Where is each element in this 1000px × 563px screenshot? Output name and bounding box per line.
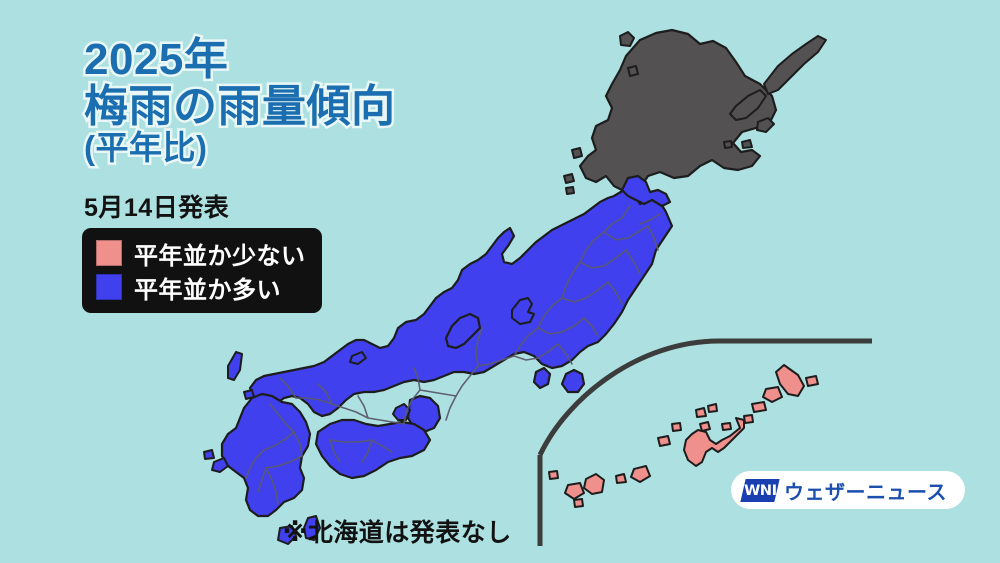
yaeyama-small	[549, 471, 558, 479]
hateruma-island	[574, 499, 583, 507]
kerama-island	[700, 422, 710, 431]
page-title: 2025年 梅雨の雨量傾向 (平年比)	[84, 38, 396, 164]
goto-island-b	[204, 450, 214, 459]
hokkaido-rishiri-island	[620, 32, 634, 46]
legend-item-less: 平年並か少ない	[96, 238, 306, 268]
boso-peninsula	[562, 370, 584, 392]
okinoerabu-island	[752, 402, 766, 412]
title-subtitle: (平年比)	[84, 131, 396, 165]
kyushu-island	[222, 394, 310, 516]
goto-island-a	[212, 458, 228, 472]
yonaguni-island	[616, 474, 626, 483]
yoron-island	[744, 415, 753, 423]
announcement-date: 5月14日発表	[84, 188, 229, 224]
tonaki-island	[672, 423, 681, 431]
tsushima-island	[228, 352, 242, 380]
legend-box: 平年並か少ない 平年並か多い	[82, 228, 322, 313]
hokkaido-small-island-a	[564, 174, 574, 183]
hokkaido-small-island-b	[566, 187, 574, 194]
legend-swatch-less	[96, 240, 122, 266]
legend-swatch-more	[96, 274, 122, 300]
hokkaido-rebun-island	[628, 66, 638, 76]
region-hokkaido	[564, 30, 826, 194]
kume-island	[658, 436, 670, 446]
legend-label-more: 平年並か多い	[134, 270, 281, 305]
weathernews-logo-text: ウェザーニュース	[784, 476, 947, 505]
okinawa-main-island	[684, 418, 744, 466]
iriomote-island	[565, 483, 584, 499]
kikai-island	[806, 376, 818, 386]
iki-island	[244, 390, 254, 399]
wni-badge-text: WNI	[744, 482, 776, 498]
etorofu-island	[764, 36, 826, 94]
hokkaido-okushiri-island	[572, 148, 582, 158]
title-main: 梅雨の雨量傾向	[84, 85, 396, 130]
weathernews-logo: WNI ウェザーニュース	[731, 471, 965, 509]
footnote-hokkaido: ※北海道は発表なし	[283, 513, 512, 549]
tokunoshima-island	[763, 387, 782, 402]
ie-island	[722, 423, 731, 430]
okinawa-small-b	[708, 404, 717, 412]
okinawa-small-a	[696, 408, 706, 417]
habomai-island-b	[724, 141, 732, 148]
title-year: 2025年	[84, 38, 396, 83]
miyako-island	[631, 466, 650, 482]
infographic-canvas: 2025年 梅雨の雨量傾向 (平年比) 5月14日発表 平年並か少ない 平年並か…	[0, 0, 1000, 563]
wni-badge-icon: WNI	[740, 479, 779, 502]
legend-label-less: 平年並か少ない	[134, 236, 306, 271]
izu-peninsula	[534, 368, 550, 388]
ishigaki-island	[584, 474, 604, 494]
habomai-island-a	[742, 140, 752, 148]
awaji-island	[393, 404, 410, 420]
legend-item-more: 平年並か多い	[96, 272, 306, 302]
